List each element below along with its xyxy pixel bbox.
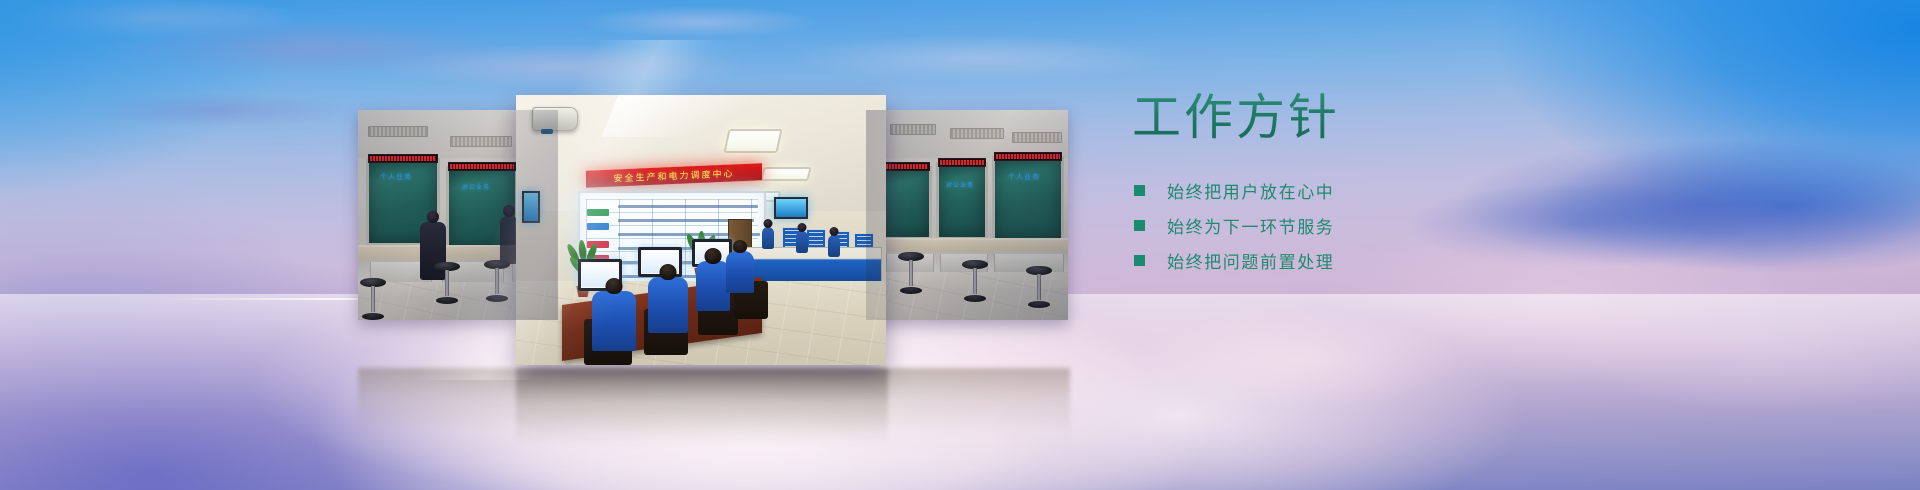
list-item: 始终把问题前置处理 bbox=[1134, 244, 1688, 278]
led-scrolling-sign bbox=[884, 162, 930, 171]
photo-collage: 个人业务 对公业务 bbox=[0, 0, 1000, 400]
teller-window bbox=[936, 162, 988, 240]
staff-figure bbox=[828, 235, 840, 257]
tiled-floor bbox=[866, 272, 1068, 320]
worker-figure bbox=[592, 291, 636, 351]
counter-panel bbox=[370, 262, 432, 285]
staff-figure bbox=[762, 227, 774, 249]
teller-window bbox=[992, 156, 1064, 242]
service-counter bbox=[866, 238, 1068, 274]
head bbox=[606, 278, 623, 294]
scene-dispatch-room: 安全生产和电力调度中心 bbox=[516, 95, 886, 365]
square-bullet-icon bbox=[1134, 255, 1145, 266]
head bbox=[427, 211, 439, 223]
head bbox=[733, 240, 747, 253]
led-scrolling-sign bbox=[938, 158, 986, 167]
head bbox=[503, 205, 515, 217]
square-bullet-icon bbox=[1134, 220, 1145, 231]
counter-panel bbox=[886, 254, 934, 274]
counter-sign-text: 对公业务 bbox=[462, 182, 490, 191]
bar-stool bbox=[434, 262, 460, 304]
counter-panel bbox=[994, 254, 1064, 274]
square-bullet-icon bbox=[1134, 185, 1145, 196]
counter-panel bbox=[940, 254, 988, 274]
list-item-label: 始终把用户放在心中 bbox=[1167, 178, 1334, 203]
scene-service-hall-right: 个人业务 对公业务 bbox=[866, 110, 1068, 320]
teller-window bbox=[882, 166, 932, 240]
head bbox=[660, 264, 677, 280]
worker-figure bbox=[726, 251, 754, 293]
list-item-label: 始终把问题前置处理 bbox=[1167, 248, 1334, 273]
worker-figure bbox=[648, 277, 688, 333]
scene-service-hall-left: 个人业务 对公业务 bbox=[358, 110, 558, 320]
customer-figure bbox=[500, 216, 518, 264]
ceiling-vent bbox=[450, 136, 512, 147]
bar-stool bbox=[360, 278, 386, 320]
list-item-label: 始终为下一环节服务 bbox=[1167, 213, 1334, 238]
staff-figure bbox=[796, 231, 808, 253]
list-item: 始终把用户放在心中 bbox=[1134, 174, 1688, 208]
led-scrolling-sign bbox=[448, 162, 516, 171]
counter-panel bbox=[442, 262, 504, 285]
bar-stool bbox=[898, 252, 924, 294]
banner-text-block: 工作方针 始终把用户放在心中 始终为下一环节服务 始终把问题前置处理 bbox=[1128, 92, 1688, 278]
bar-stool bbox=[484, 260, 510, 302]
tiled-floor bbox=[358, 282, 558, 320]
ceiling-lamp bbox=[760, 167, 811, 181]
counter-sign-text: 对公业务 bbox=[946, 180, 974, 189]
counter-sign-text: 个人业务 bbox=[380, 172, 412, 182]
head bbox=[705, 248, 722, 264]
ceiling-vent bbox=[890, 124, 936, 135]
bar-stool bbox=[962, 260, 988, 302]
led-scrolling-sign bbox=[368, 154, 438, 163]
photo-service-counter-right[interactable]: 个人业务 对公业务 bbox=[866, 110, 1068, 320]
bar-stool bbox=[1026, 266, 1052, 308]
ceiling-vent bbox=[1012, 132, 1062, 143]
teller-window bbox=[522, 172, 558, 252]
display-row-label bbox=[587, 223, 609, 230]
counter-panel bbox=[512, 262, 558, 285]
worker-figure bbox=[696, 261, 730, 311]
service-counter bbox=[358, 245, 558, 285]
customer-figure bbox=[420, 222, 446, 280]
policy-list: 始终把用户放在心中 始终为下一环节服务 始终把问题前置处理 bbox=[1128, 174, 1688, 278]
display-row-label bbox=[587, 209, 609, 216]
wall-monitor bbox=[774, 197, 808, 219]
counter-sign-text: 个人业务 bbox=[1008, 172, 1040, 182]
list-item: 始终为下一环节服务 bbox=[1134, 209, 1688, 243]
hero-banner: 个人业务 对公业务 bbox=[0, 0, 1920, 490]
ceiling-vent bbox=[368, 126, 428, 137]
teller-window bbox=[446, 166, 518, 250]
ceiling-vent bbox=[950, 128, 1004, 139]
display-text-line bbox=[618, 205, 758, 208]
photo-service-counter-left[interactable]: 个人业务 对公业务 bbox=[358, 110, 558, 320]
ceiling bbox=[358, 110, 558, 158]
page-title: 工作方针 bbox=[1128, 92, 1688, 145]
photo-dispatch-room-center[interactable]: 安全生产和电力调度中心 bbox=[516, 95, 886, 365]
ceiling bbox=[866, 110, 1068, 158]
ceiling-lamp bbox=[723, 129, 782, 153]
led-scrolling-sign bbox=[994, 152, 1062, 161]
teller-window bbox=[366, 158, 440, 246]
